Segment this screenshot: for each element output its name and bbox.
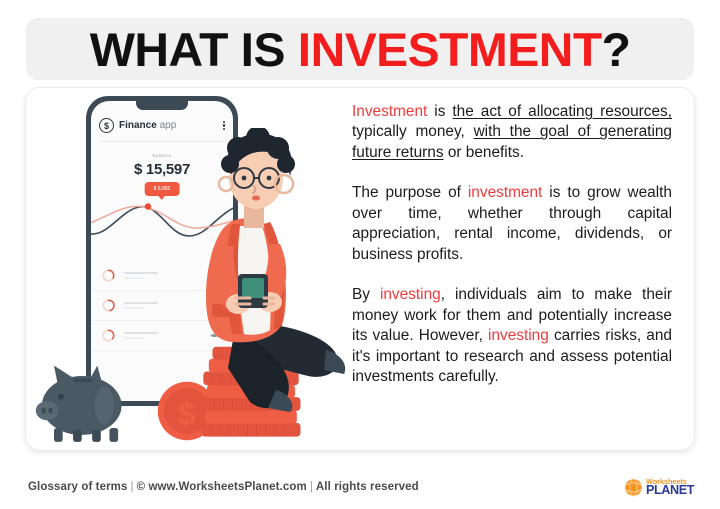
gauge-icon	[101, 268, 116, 283]
app-name-bold: Finance	[119, 120, 157, 131]
footer-glossary: Glossary of terms	[28, 481, 128, 493]
piggy-bank-icon	[28, 360, 132, 444]
paragraph-2: The purpose of investment is to grow wea…	[352, 183, 672, 265]
text-run: By	[352, 286, 380, 303]
footer-sep-1: |	[128, 481, 137, 493]
app-name: Finance app	[119, 120, 176, 131]
text-run: is	[427, 103, 452, 120]
gauge-icon	[101, 328, 116, 343]
title-banner: WHAT IS INVESTMENT?	[26, 18, 694, 80]
title-part-red: INVESTMENT	[298, 23, 602, 76]
footer: Glossary of terms|© www.WorksheetsPlanet…	[0, 465, 720, 509]
text-run: or benefits.	[444, 144, 524, 161]
content-card: $ Finance app Balance $ 15,597 $ 5,902	[26, 88, 694, 450]
text-run: typically money,	[352, 123, 474, 140]
title-part-black: WHAT IS	[90, 23, 298, 76]
title-question-mark: ?	[602, 23, 631, 76]
footer-rights: All rights reserved	[316, 481, 419, 493]
woman-with-phone-illustration	[176, 128, 348, 428]
illustration-panel: $ Finance app Balance $ 15,597 $ 5,902	[26, 88, 348, 450]
text-run: The purpose of	[352, 184, 468, 201]
footer-copyright: © www.WorksheetsPlanet.com	[137, 481, 307, 493]
text-run: investing	[380, 286, 441, 303]
dollar-icon: $	[99, 118, 114, 133]
text-run: Investment	[352, 103, 427, 120]
page-title: WHAT IS INVESTMENT?	[90, 26, 631, 73]
phone-notch	[136, 101, 188, 110]
paragraph-3: By investing, individuals aim to make th…	[352, 285, 672, 387]
footer-sep-2: |	[307, 481, 316, 493]
gauge-icon	[101, 298, 116, 313]
globe-icon	[624, 478, 643, 497]
logo-bottom-word: PLANET	[646, 484, 694, 497]
text-run: investing	[488, 327, 549, 344]
text-run: the act of allocating resources,	[452, 103, 672, 120]
infographic-page: WHAT IS INVESTMENT? $ Finance app Balanc…	[0, 0, 720, 509]
text-run: investment	[468, 184, 542, 201]
definition-text-column: Investment is the act of allocating reso…	[348, 88, 694, 450]
logo-wordmark: Worksheets PLANET	[646, 478, 694, 497]
app-name-light: app	[160, 120, 177, 131]
footer-credits: Glossary of terms|© www.WorksheetsPlanet…	[28, 481, 419, 493]
worksheets-planet-logo[interactable]: Worksheets PLANET	[624, 478, 694, 497]
paragraph-1: Investment is the act of allocating reso…	[352, 102, 672, 163]
